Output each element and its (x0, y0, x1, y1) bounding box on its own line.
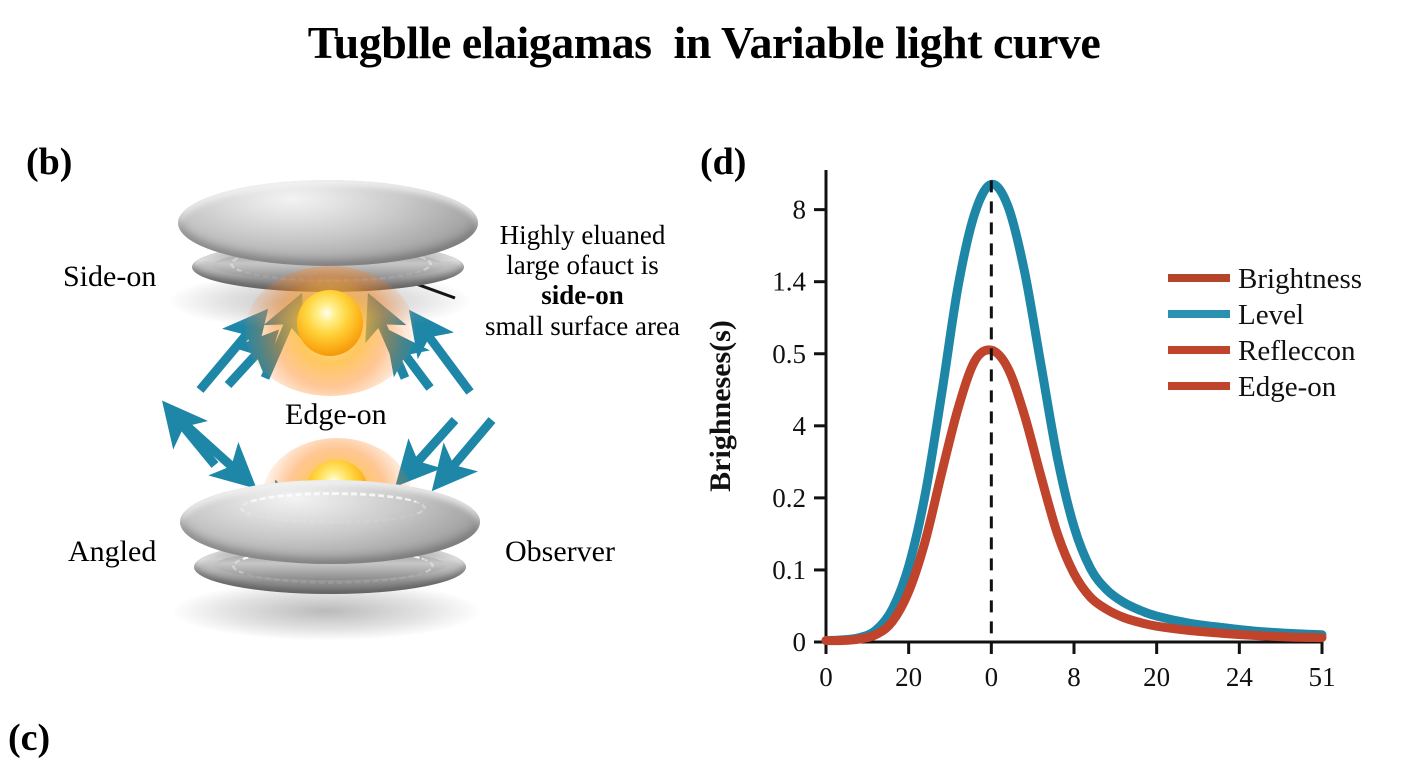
x-tick-label: 8 (1067, 662, 1081, 690)
light-curve-chart-panel: 00.10.240.51.48 02008202451 Brighneses(s… (690, 130, 1408, 690)
y-tick-label: 0.1 (772, 555, 806, 585)
x-tick-label: 0 (985, 662, 999, 690)
disc-lower-angled (180, 478, 480, 628)
y-axis-ticks: 00.10.240.51.48 (772, 195, 826, 657)
figure-title: Tugblle elaigamas in Variable light curv… (0, 16, 1408, 69)
y-tick-label: 0.2 (772, 483, 806, 513)
disc-top-dashed-ring (240, 492, 426, 524)
disc-diagram-panel: Side-on Edge-on Angled Observer Highly e… (0, 120, 700, 680)
y-tick-label: 0.5 (772, 339, 806, 369)
y-tick-label: 1.4 (772, 267, 806, 297)
label-side-on: Side-on (63, 260, 156, 294)
y-axis-title: Brighneses(s) (704, 320, 737, 492)
label-observer: Observer (505, 535, 615, 569)
x-tick-label: 0 (819, 662, 833, 690)
x-tick-label: 20 (895, 662, 922, 690)
diagram-annotation: Highly eluaned large ofauct is side-on s… (460, 220, 705, 341)
annotation-line-4: small surface area (460, 311, 705, 341)
chart-svg: 00.10.240.51.48 02008202451 Brighneses(s… (690, 130, 1408, 690)
annotation-line-1: Highly eluaned (460, 220, 705, 250)
annotation-line-3-bold: side-on (460, 280, 705, 310)
y-tick-label: 0 (793, 627, 807, 657)
panel-label-c: (c) (8, 716, 50, 760)
chart-series (826, 184, 1322, 640)
x-axis-ticks: 02008202451 (819, 642, 1335, 690)
disc-top-surface (178, 180, 478, 266)
label-angled: Angled (68, 535, 156, 569)
legend-label: Brightness (1238, 263, 1362, 295)
legend-label: Level (1238, 299, 1304, 331)
x-tick-label: 20 (1143, 662, 1170, 690)
x-tick-label: 51 (1309, 662, 1336, 690)
y-tick-label: 4 (793, 411, 807, 441)
legend-label: Refleccon (1238, 335, 1356, 367)
star-core (297, 290, 363, 356)
annotation-line-2: large ofauct is (460, 250, 705, 280)
y-tick-label: 8 (793, 195, 807, 225)
chart-legend: BrightnessLevelReflecconEdge-on (1168, 263, 1362, 403)
legend-label: Edge-on (1238, 371, 1337, 403)
star-upper (245, 266, 415, 396)
x-tick-label: 24 (1226, 662, 1254, 690)
label-edge-on: Edge-on (285, 398, 387, 432)
